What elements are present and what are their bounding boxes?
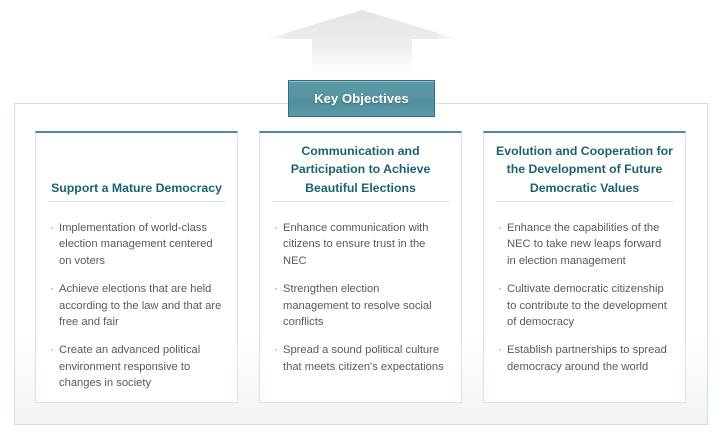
key-objectives-badge: Key Objectives — [288, 80, 435, 117]
bullet-dot-icon: · — [498, 342, 502, 358]
objective-card-support-mature-democracy: Support a Mature Democracy · Implementat… — [35, 131, 238, 403]
bullet-dot-icon: · — [274, 342, 278, 358]
list-item-text: Cultivate democratic citizenship to cont… — [507, 283, 667, 328]
key-objectives-badge-label: Key Objectives — [314, 91, 409, 106]
list-item-text: Enhance communication with citizens to e… — [283, 222, 429, 267]
list-item-text: Create an advanced political environment… — [59, 344, 200, 389]
card-bullet-list: · Enhance the capabilities of the NEC to… — [496, 202, 673, 375]
bullet-dot-icon: · — [498, 220, 502, 236]
list-item: · Establish partnerships to spread democ… — [498, 342, 671, 375]
list-item-text: Achieve elections that are held accordin… — [59, 283, 221, 328]
list-item: · Spread a sound political culture that … — [274, 342, 447, 375]
card-bullet-list: · Enhance communication with citizens to… — [272, 202, 449, 375]
up-arrow-graphic — [262, 6, 462, 78]
card-title-zone: Evolution and Cooperation for the Develo… — [496, 133, 673, 201]
list-item: · Cultivate democratic citizenship to co… — [498, 281, 671, 330]
up-arrow-icon — [262, 6, 462, 78]
card-bullet-list: · Implementation of world-class election… — [48, 202, 225, 392]
list-item-text: Implementation of world-class election m… — [59, 222, 213, 267]
card-title-zone: Support a Mature Democracy — [48, 133, 225, 201]
objective-card-evolution-cooperation: Evolution and Cooperation for the Develo… — [483, 131, 686, 403]
list-item: · Implementation of world-class election… — [50, 220, 223, 269]
card-title: Support a Mature Democracy — [51, 179, 222, 198]
list-item: · Strengthen election management to reso… — [274, 281, 447, 330]
list-item-text: Establish partnerships to spread democra… — [507, 344, 667, 372]
diagram-canvas: Key Objectives Support a Mature Democrac… — [0, 0, 724, 436]
list-item: · Create an advanced political environme… — [50, 342, 223, 391]
list-item: · Enhance the capabilities of the NEC to… — [498, 220, 671, 269]
bullet-dot-icon: · — [50, 342, 54, 358]
list-item: · Enhance communication with citizens to… — [274, 220, 447, 269]
list-item-text: Enhance the capabilities of the NEC to t… — [507, 222, 661, 267]
list-item-text: Strengthen election management to resolv… — [283, 283, 432, 328]
list-item: · Achieve elections that are held accord… — [50, 281, 223, 330]
card-title: Communication and Participation to Achie… — [272, 142, 449, 198]
objective-cards-row: Support a Mature Democracy · Implementat… — [35, 131, 688, 403]
bullet-dot-icon: · — [50, 281, 54, 297]
list-item-text: Spread a sound political culture that me… — [283, 344, 444, 372]
card-title-zone: Communication and Participation to Achie… — [272, 133, 449, 201]
bullet-dot-icon: · — [274, 220, 278, 236]
card-title: Evolution and Cooperation for the Develo… — [496, 142, 673, 198]
objective-card-communication-participation: Communication and Participation to Achie… — [259, 131, 462, 403]
bullet-dot-icon: · — [498, 281, 502, 297]
bullet-dot-icon: · — [274, 281, 278, 297]
bullet-dot-icon: · — [50, 220, 54, 236]
